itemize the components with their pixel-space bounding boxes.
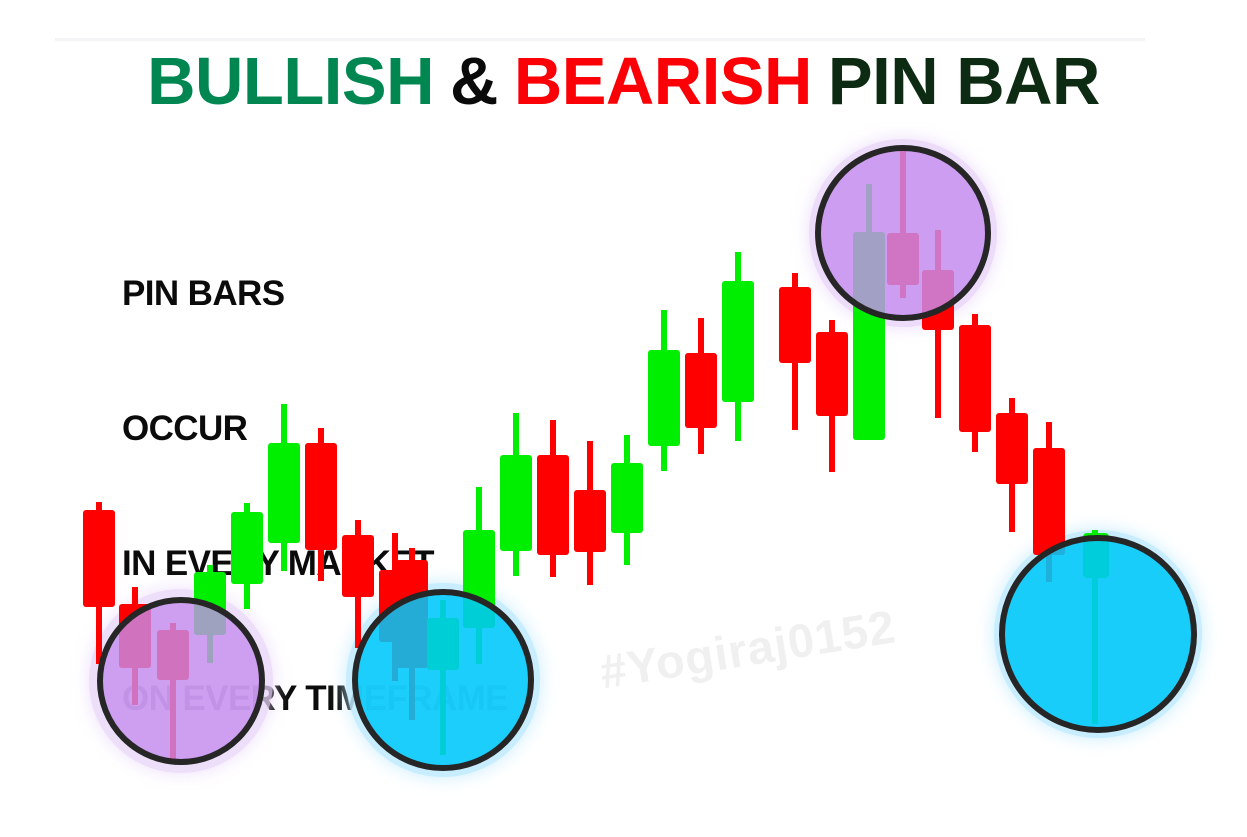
candle-16 bbox=[611, 435, 643, 565]
candle-5-body bbox=[231, 512, 263, 584]
highlight-circles bbox=[100, 148, 1194, 768]
candle-8-body bbox=[342, 535, 374, 597]
candle-20 bbox=[779, 273, 811, 430]
highlight-bearish-pin-bar-top[interactable] bbox=[818, 148, 988, 318]
candle-18 bbox=[685, 318, 717, 454]
candle-13 bbox=[500, 413, 532, 576]
candle-26 bbox=[996, 398, 1028, 532]
candle-15 bbox=[574, 441, 606, 585]
candle-14-body bbox=[537, 455, 569, 555]
candle-26-body bbox=[996, 413, 1028, 484]
candle-16-body bbox=[611, 463, 643, 533]
candle-19-body bbox=[722, 281, 754, 402]
candle-15-body bbox=[574, 490, 606, 552]
highlight-bullish-pin-bar-mid[interactable] bbox=[355, 592, 531, 768]
candle-21-body bbox=[816, 332, 848, 416]
candle-5 bbox=[231, 503, 263, 609]
candlestick-chart bbox=[0, 0, 1247, 837]
candle-17 bbox=[648, 310, 680, 471]
highlight-bullish-pin-bar-right[interactable] bbox=[1002, 538, 1194, 730]
candle-7 bbox=[305, 428, 337, 581]
candle-18-body bbox=[685, 353, 717, 428]
candle-20-body bbox=[779, 287, 811, 363]
candle-1-body bbox=[83, 510, 115, 607]
candle-6-body bbox=[268, 443, 300, 543]
highlight-bullish-pin-bar-left[interactable] bbox=[100, 600, 262, 762]
candle-6 bbox=[268, 404, 300, 571]
candle-27-body bbox=[1033, 448, 1065, 555]
candle-21 bbox=[816, 320, 848, 472]
candle-19 bbox=[722, 252, 754, 441]
candle-17-body bbox=[648, 350, 680, 446]
candle-7-body bbox=[305, 443, 337, 550]
candle-25 bbox=[959, 314, 991, 452]
candle-25-body bbox=[959, 325, 991, 432]
candle-13-body bbox=[500, 455, 532, 551]
poster-root: BULLISH&BEARISHPIN BAR PIN BARS OCCUR IN… bbox=[0, 0, 1247, 837]
candle-14 bbox=[537, 420, 569, 577]
